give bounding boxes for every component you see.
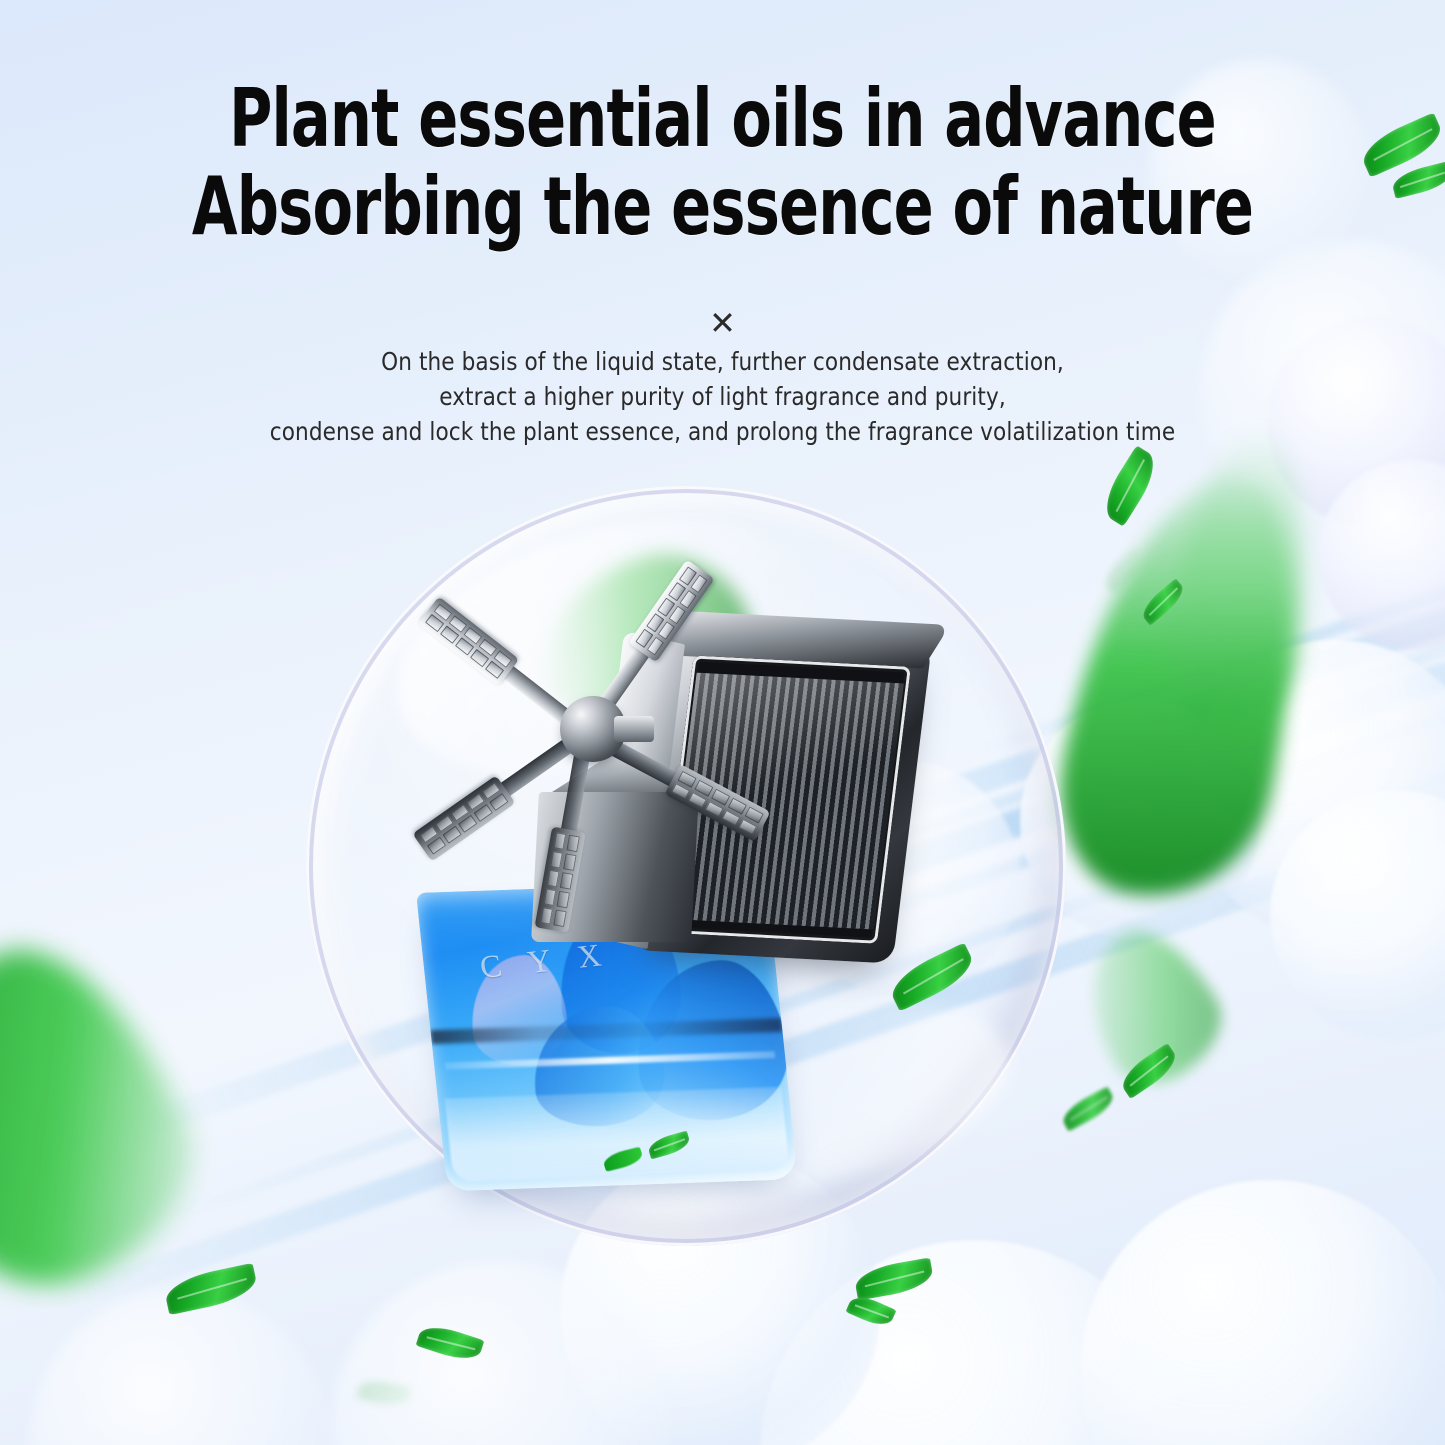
solar-windmill-diffuser: C Y X	[392, 516, 952, 1216]
background-bubble	[330, 1260, 670, 1445]
headline-line-1: Plant essential oils in advance	[130, 72, 1315, 166]
blade-paddle	[412, 775, 515, 861]
green-leaf	[853, 1257, 935, 1300]
background-bubble	[1080, 1180, 1445, 1445]
background-bubble	[30, 1290, 330, 1445]
description-line-2: extract a higher purity of light fragran…	[29, 379, 1416, 414]
green-leaf	[1116, 1043, 1182, 1099]
green-leaf	[416, 1321, 485, 1366]
description-line-1: On the basis of the liquid state, furthe…	[29, 344, 1416, 379]
blade-paddle	[418, 596, 519, 686]
windmill-hub	[560, 696, 626, 762]
green-leaf	[1137, 578, 1188, 625]
background-bubble	[1318, 460, 1445, 650]
background-bubble	[760, 1240, 1190, 1445]
green-leaf	[356, 1377, 411, 1409]
description-line-3: condense and lock the plant essence, and…	[29, 414, 1416, 449]
green-leaf-blur	[1041, 454, 1329, 916]
green-leaf-blur	[0, 913, 226, 1316]
background-bubble	[1270, 790, 1445, 1040]
green-leaf	[1058, 1086, 1118, 1132]
green-leaf-blur	[1162, 425, 1318, 735]
product-promo-image: Plant essential oils in advance Absorbin…	[0, 0, 1445, 1445]
headline-line-2: Absorbing the essence of nature	[130, 160, 1315, 254]
background-bubble	[1186, 640, 1445, 940]
hub-shaft	[614, 716, 654, 742]
green-leaf	[1100, 546, 1148, 594]
green-leaf	[1390, 161, 1445, 199]
x-divider-icon: ✕	[0, 305, 1445, 341]
green-leaf	[1096, 445, 1163, 526]
green-leaf	[162, 1263, 259, 1315]
description-paragraph: On the basis of the liquid state, furthe…	[0, 344, 1445, 449]
light-streak	[978, 544, 1445, 758]
